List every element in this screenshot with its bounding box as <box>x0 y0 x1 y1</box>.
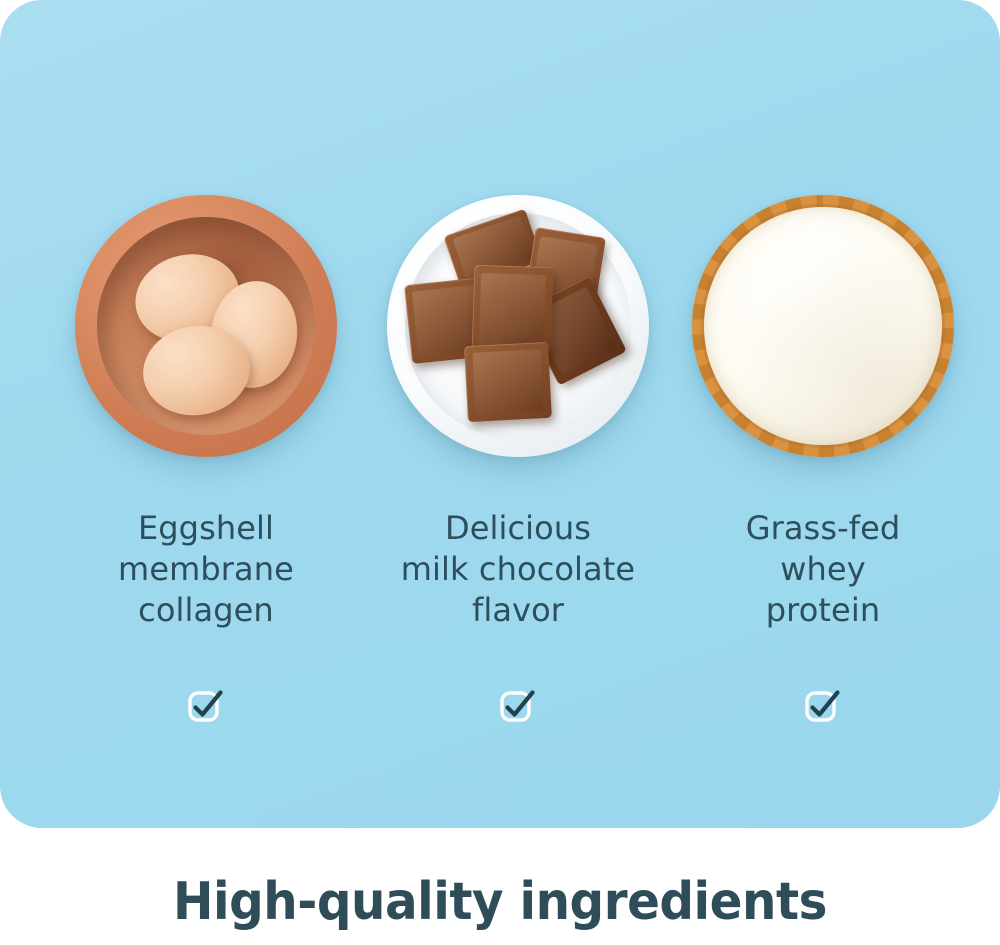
whey-powder <box>704 207 942 445</box>
ingredients-infographic: Eggshell membrane collagen <box>0 0 1000 945</box>
ingredient-label-eggshell: Eggshell membrane collagen <box>51 508 361 631</box>
label-line: milk chocolate <box>363 549 673 590</box>
label-line: collagen <box>51 590 361 631</box>
ingredient-label-whey: Grass-fed whey protein <box>668 508 978 631</box>
label-line: membrane <box>51 549 361 590</box>
checkmark-icon <box>495 683 541 729</box>
label-line: protein <box>668 590 978 631</box>
label-line: Eggshell <box>51 508 361 549</box>
chocolate-image <box>387 195 649 457</box>
ingredient-column-whey: Grass-fed whey protein <box>668 0 978 828</box>
ingredient-column-chocolate: Delicious milk chocolate flavor <box>363 0 673 828</box>
wooden-bowl-icon <box>692 195 954 457</box>
page-title: High-quality ingredients <box>35 872 965 932</box>
white-bowl-icon <box>387 195 649 457</box>
label-line: flavor <box>363 590 673 631</box>
eggshell-image <box>75 195 337 457</box>
label-line: Grass-fed <box>668 508 978 549</box>
chocolate-square-icon <box>472 264 554 353</box>
checkmark-icon <box>800 683 846 729</box>
checkmark-icon <box>183 683 229 729</box>
label-line: Delicious <box>363 508 673 549</box>
ingredient-label-chocolate: Delicious milk chocolate flavor <box>363 508 673 631</box>
whey-image <box>692 195 954 457</box>
ingredient-column-eggshell: Eggshell membrane collagen <box>51 0 361 828</box>
ingredient-columns: Eggshell membrane collagen <box>0 0 1000 828</box>
label-line: whey <box>668 549 978 590</box>
chocolate-square-icon <box>464 342 552 422</box>
terracotta-bowl-icon <box>75 195 337 457</box>
